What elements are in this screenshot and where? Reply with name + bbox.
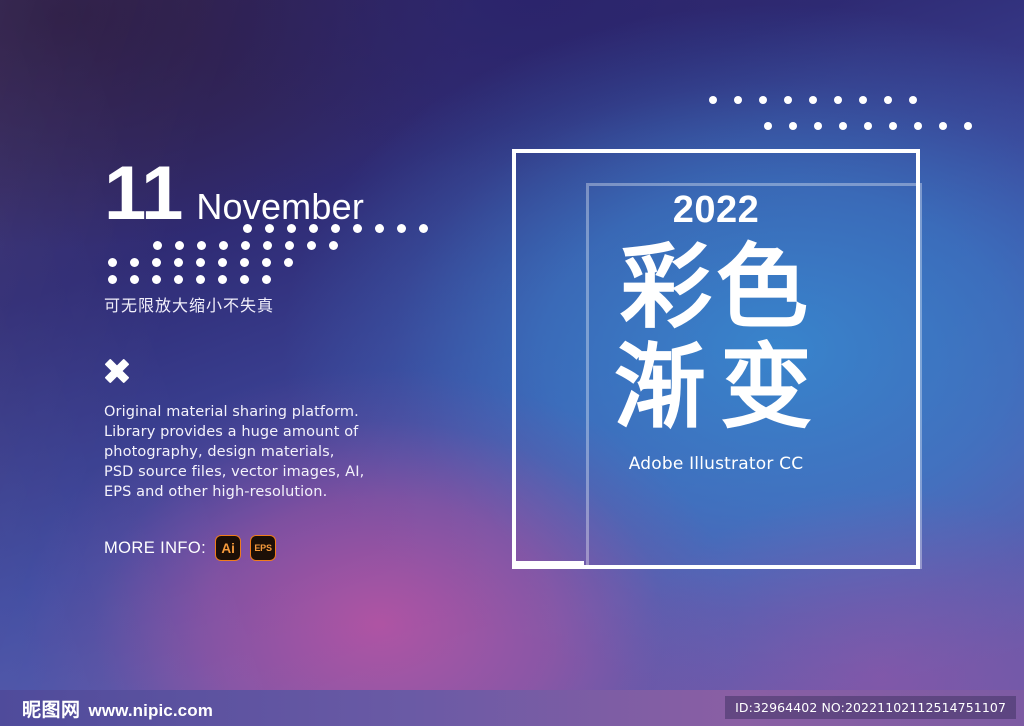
more-info-label: MORE INFO:: [104, 539, 206, 558]
decorative-dot: [152, 275, 161, 284]
decorative-dot: [241, 241, 250, 250]
decorative-dot: [218, 258, 227, 267]
decorative-dot: [285, 241, 294, 250]
decorative-dot: [284, 258, 293, 267]
decorative-dot: [174, 275, 183, 284]
decorative-dot: [419, 224, 428, 233]
decorative-dot: [864, 122, 872, 130]
decorative-dot: [175, 241, 184, 250]
decorative-dot: [240, 258, 249, 267]
decorative-dot: [889, 122, 897, 130]
description-line: Original material sharing platform.: [104, 402, 434, 422]
decorative-dot: [262, 275, 271, 284]
decorative-dot: [789, 122, 797, 130]
decorative-dot: [914, 122, 922, 130]
decorative-dot: [130, 275, 139, 284]
eps-format-badge[interactable]: EPS: [250, 535, 276, 561]
decorative-dot: [709, 96, 717, 104]
day-number: 11: [104, 160, 182, 228]
footer-brand: 昵图网 www.nipic.com: [22, 695, 213, 722]
tagline-text: 可无限放大缩小不失真: [104, 292, 434, 316]
headline-chinese: 彩色 渐变: [606, 239, 826, 438]
description-line: photography, design materials,: [104, 442, 434, 462]
year-label: 2022: [673, 191, 760, 229]
brand-website[interactable]: www.nipic.com: [89, 701, 213, 721]
decorative-dot: [108, 258, 117, 267]
month-name: November: [196, 186, 364, 228]
decorative-dot: [784, 96, 792, 104]
x-cross-icon: [104, 358, 130, 384]
decorative-dot: [734, 96, 742, 104]
decorative-dot-pattern-top-right: [700, 96, 940, 136]
decorative-dot: [397, 224, 406, 233]
decorative-dot: [218, 275, 227, 284]
decorative-dot: [859, 96, 867, 104]
date-heading: 11 November: [104, 160, 434, 228]
panel-subtitle: Adobe Illustrator CC: [629, 454, 804, 474]
decorative-dot: [964, 122, 972, 130]
decorative-dot: [265, 224, 274, 233]
decorative-dot: [197, 241, 206, 250]
decorative-dot: [130, 258, 139, 267]
description-line: Library provides a huge amount of: [104, 422, 434, 442]
asset-id-chip: ID:32964402 NO:20221102112514751107: [725, 696, 1016, 719]
decorative-dot: [174, 258, 183, 267]
decorative-dot: [152, 258, 161, 267]
poster-canvas: 11 November 可无限放大缩小不失真 Original material…: [0, 0, 1024, 726]
description-paragraph: Original material sharing platform. Libr…: [104, 402, 434, 502]
decorative-dot: [939, 122, 947, 130]
decorative-dot: [375, 224, 384, 233]
decorative-dot: [243, 224, 252, 233]
decorative-dot: [759, 96, 767, 104]
decorative-dot: [240, 275, 249, 284]
decorative-dot: [307, 241, 316, 250]
decorative-dot: [219, 241, 228, 250]
description-line: EPS and other high-resolution.: [104, 482, 434, 502]
description-line: PSD source files, vector images, AI,: [104, 462, 434, 482]
more-info-row: MORE INFO: Ai EPS: [104, 535, 434, 561]
brand-name-cn: 昵图网: [22, 695, 81, 722]
decorative-dot: [153, 241, 162, 250]
headline-line-1: 彩色: [620, 234, 812, 341]
decorative-dot: [263, 241, 272, 250]
decorative-dot-pattern-left: [104, 224, 434, 286]
decorative-dot: [764, 122, 772, 130]
decorative-dot: [196, 275, 205, 284]
decorative-dot: [309, 224, 318, 233]
panel-content: 2022 彩色 渐变 Adobe Illustrator CC: [512, 149, 920, 569]
footer-bar: 昵图网 www.nipic.com ID:32964402 NO:2022110…: [0, 690, 1024, 726]
decorative-dot: [839, 122, 847, 130]
decorative-dot: [262, 258, 271, 267]
decorative-dot: [329, 241, 338, 250]
headline-line-2: 渐变: [614, 339, 826, 437]
decorative-dot: [909, 96, 917, 104]
decorative-dot: [108, 275, 117, 284]
left-content-column: 11 November 可无限放大缩小不失真 Original material…: [104, 160, 434, 561]
decorative-dot: [834, 96, 842, 104]
decorative-dot: [331, 224, 340, 233]
decorative-dot: [287, 224, 296, 233]
decorative-dot: [196, 258, 205, 267]
decorative-dot: [809, 96, 817, 104]
decorative-dot: [884, 96, 892, 104]
ai-format-badge[interactable]: Ai: [215, 535, 241, 561]
decorative-dot: [814, 122, 822, 130]
decorative-dot: [353, 224, 362, 233]
